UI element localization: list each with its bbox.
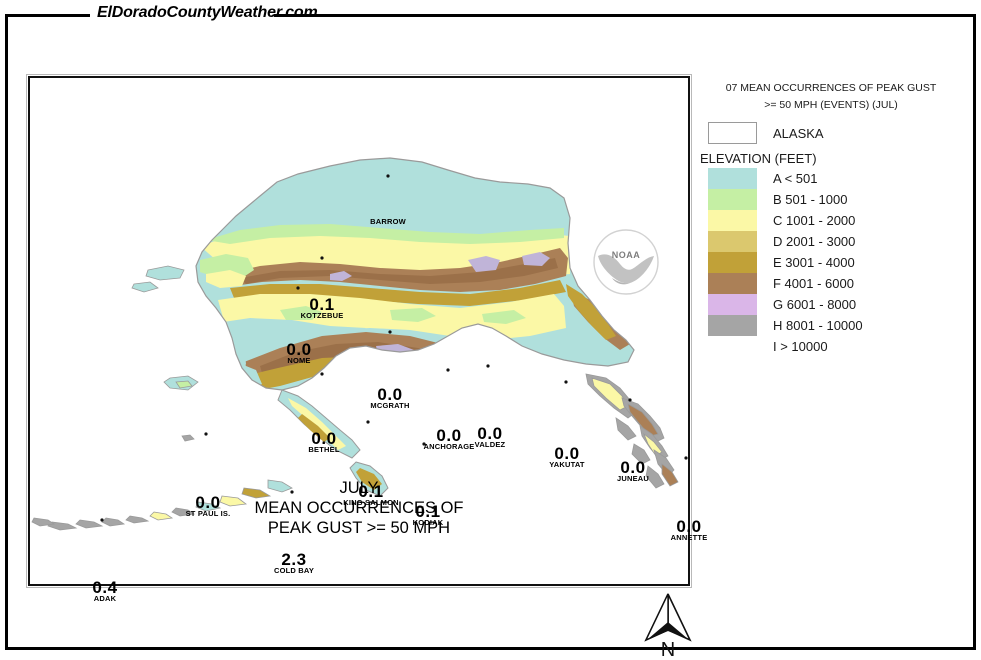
station-kotzebue: 0.1 KOTZEBUE bbox=[301, 297, 344, 320]
legend-elevation-row-e: E 3001 - 4000 bbox=[700, 252, 981, 273]
map-panel[interactable]: NOAA BARROW 0.1 KOTZEBUE 0.0 NOME 0.0 MC… bbox=[28, 76, 690, 586]
legend-swatch-a bbox=[708, 168, 757, 189]
mainland-terrain bbox=[180, 148, 660, 408]
legend-title-line2: >= 50 MPH (EVENTS) (JUL) bbox=[700, 97, 962, 114]
legend-swatch-h bbox=[708, 315, 757, 336]
site-title: ElDoradoCountyWeather.com bbox=[97, 4, 318, 22]
legend-swatch-b bbox=[708, 189, 757, 210]
north-label: N bbox=[661, 639, 675, 658]
legend-label-f: F 4001 - 6000 bbox=[773, 276, 854, 291]
station-mcgrath: 0.0 MCGRATH bbox=[370, 387, 409, 410]
frame-bottom-edge bbox=[5, 647, 976, 650]
legend-elevation-row-b: B 501 - 1000 bbox=[700, 189, 981, 210]
station-nome: 0.0 NOME bbox=[286, 342, 311, 365]
legend-label-g: G 6001 - 8000 bbox=[773, 297, 856, 312]
legend-elevation-header: ELEVATION (FEET) bbox=[700, 151, 981, 166]
legend-label-h: H 8001 - 10000 bbox=[773, 318, 863, 333]
legend-label-i: I > 10000 bbox=[773, 339, 828, 354]
legend-elevation-row-f: F 4001 - 6000 bbox=[700, 273, 981, 294]
legend-elevation-row-a: A < 501 bbox=[700, 168, 981, 189]
svg-text:NOAA: NOAA bbox=[612, 250, 641, 260]
frame-top-corner bbox=[5, 14, 27, 17]
station-adak: 0.4 ADAK bbox=[92, 580, 117, 603]
legend-swatch-alaska bbox=[708, 122, 757, 144]
station-anchorage: 0.0 ANCHORAGE bbox=[424, 428, 475, 451]
legend-label-alaska: ALASKA bbox=[773, 126, 824, 141]
frame-top-segment-right bbox=[274, 14, 976, 17]
legend-elevation-row-h: H 8001 - 10000 bbox=[700, 315, 981, 336]
legend-swatch-c bbox=[708, 210, 757, 231]
frame-top-segment-left bbox=[27, 14, 90, 17]
legend-elevation-row-d: D 2001 - 3000 bbox=[700, 231, 981, 252]
legend-title-line1: 07 MEAN OCCURRENCES OF PEAK GUST bbox=[700, 80, 962, 97]
station-valdez: 0.0 VALDEZ bbox=[475, 426, 506, 449]
legend-swatch-g bbox=[708, 294, 757, 315]
legend-swatch-f bbox=[708, 273, 757, 294]
noaa-logo-icon: NOAA bbox=[590, 226, 662, 298]
legend-swatch-i bbox=[708, 336, 757, 357]
bering-sea-islands bbox=[132, 266, 198, 441]
station-cold-bay: 2.3 COLD BAY bbox=[274, 552, 314, 575]
legend-label-c: C 1001 - 2000 bbox=[773, 213, 855, 228]
legend-swatch-e bbox=[708, 252, 757, 273]
legend-elevation-row-i: I > 10000 bbox=[700, 336, 981, 357]
map-caption-line1: JULY bbox=[30, 478, 688, 498]
station-barrow: BARROW bbox=[370, 218, 406, 226]
map-caption-line3: PEAK GUST >= 50 MPH bbox=[30, 518, 688, 538]
legend-elevation-row-g: G 6001 - 8000 bbox=[700, 294, 981, 315]
legend-panel: 07 MEAN OCCURRENCES OF PEAK GUST >= 50 M… bbox=[700, 80, 981, 357]
station-yakutat: 0.0 YAKUTAT bbox=[549, 446, 584, 469]
legend-label-b: B 501 - 1000 bbox=[773, 192, 847, 207]
legend-region-row: ALASKA bbox=[700, 122, 981, 144]
page-root: ElDoradoCountyWeather.com bbox=[0, 0, 981, 660]
map-caption-line2: MEAN OCCURRENCES OF bbox=[30, 498, 688, 518]
station-bethel: 0.0 BETHEL bbox=[308, 431, 339, 454]
north-arrow-icon: N bbox=[638, 592, 698, 658]
legend-swatch-d bbox=[708, 231, 757, 252]
legend-elevation-row-c: C 1001 - 2000 bbox=[700, 210, 981, 231]
legend-label-e: E 3001 - 4000 bbox=[773, 255, 855, 270]
legend-label-d: D 2001 - 3000 bbox=[773, 234, 855, 249]
frame-left-edge bbox=[5, 14, 8, 650]
legend-label-a: A < 501 bbox=[773, 171, 817, 186]
